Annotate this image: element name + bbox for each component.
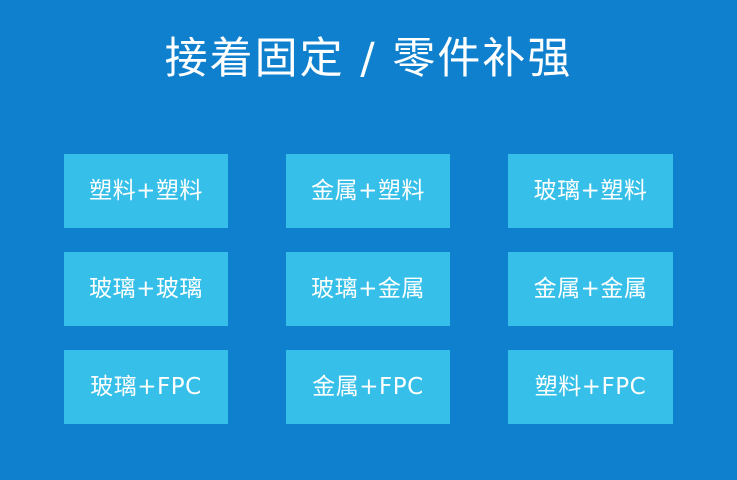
material-combination-label: 塑料+塑料 <box>89 177 203 205</box>
material-combination-cell[interactable]: 玻璃+塑料 <box>508 154 673 228</box>
material-combination-cell[interactable]: 金属+金属 <box>508 252 673 326</box>
material-combination-cell[interactable]: 玻璃+玻璃 <box>64 252 228 326</box>
material-combination-cell[interactable]: 金属+FPC <box>286 350 450 424</box>
material-combination-cell[interactable]: 塑料+FPC <box>508 350 673 424</box>
material-combination-grid: 塑料+塑料 金属+塑料 玻璃+塑料 玻璃+玻璃 玻璃+金属 金属+金属 玻璃+F… <box>64 154 673 425</box>
material-combination-cell[interactable]: 玻璃+金属 <box>286 252 450 326</box>
slide-canvas: 接着固定 / 零件补强 塑料+塑料 金属+塑料 玻璃+塑料 玻璃+玻璃 玻璃+金… <box>0 0 737 480</box>
material-combination-label: 玻璃+塑料 <box>534 177 648 205</box>
material-combination-label: 塑料+FPC <box>535 373 646 401</box>
material-combination-label: 玻璃+玻璃 <box>89 275 203 303</box>
material-combination-cell[interactable]: 塑料+塑料 <box>64 154 228 228</box>
material-combination-cell[interactable]: 金属+塑料 <box>286 154 450 228</box>
material-combination-label: 玻璃+金属 <box>311 275 425 303</box>
material-combination-label: 金属+FPC <box>312 373 423 401</box>
material-combination-label: 玻璃+FPC <box>90 373 201 401</box>
page-title: 接着固定 / 零件补强 <box>0 33 737 85</box>
material-combination-label: 金属+塑料 <box>311 177 425 205</box>
material-combination-cell[interactable]: 玻璃+FPC <box>64 350 228 424</box>
material-combination-label: 金属+金属 <box>534 275 648 303</box>
